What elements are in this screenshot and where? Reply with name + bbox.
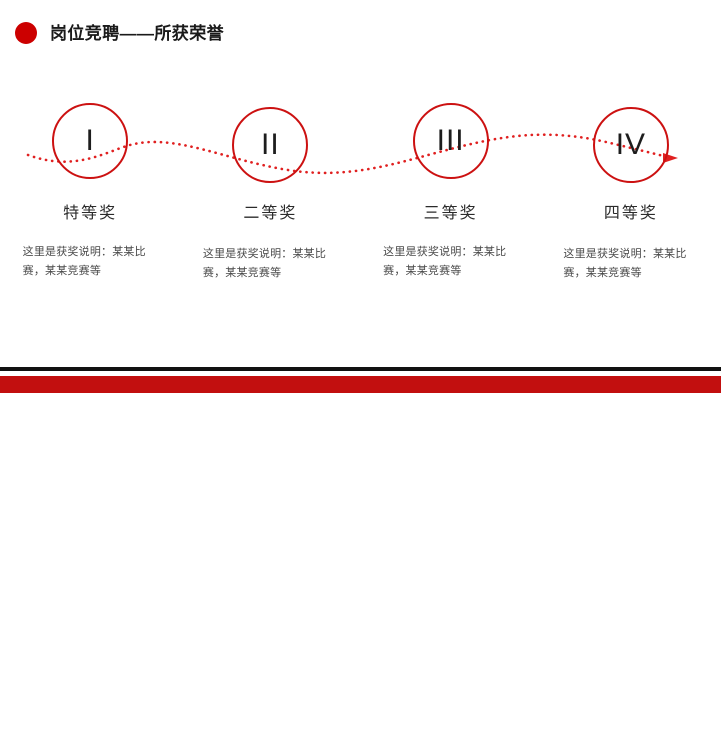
milestone-label-1: 特等奖: [63, 206, 117, 222]
milestone-numeral-2: II: [261, 130, 280, 160]
milestone-item-2[interactable]: II 二等奖 这里是获奖说明：某某比赛，某某竞赛等: [180, 60, 360, 315]
milestone-description-4: 这里是获奖说明：某某比赛，某某竞赛等: [563, 245, 698, 284]
milestone-item-3[interactable]: III 三等奖 这里是获奖说明：某某比赛，某某竞赛等: [361, 60, 541, 315]
milestone-item-1[interactable]: I 特等奖 这里是获奖说明：某某比赛，某某竞赛等: [0, 60, 180, 315]
milestone-circle-3[interactable]: III: [413, 103, 489, 179]
milestone-label-4: 四等奖: [604, 206, 658, 222]
milestone-circle-4[interactable]: IV: [593, 107, 669, 183]
milestone-description-1: 这里是获奖说明：某某比赛，某某竞赛等: [23, 243, 158, 282]
milestone-numeral-1: I: [85, 126, 94, 156]
milestone-label-3: 三等奖: [424, 206, 478, 222]
milestone-description-2: 这里是获奖说明：某某比赛，某某竞赛等: [203, 245, 338, 284]
slide-header: 岗位竞聘——所获荣誉: [0, 17, 224, 49]
milestone-numeral-4: IV: [616, 130, 646, 160]
milestone-list: I 特等奖 这里是获奖说明：某某比赛，某某竞赛等 II 二等奖 这里是获奖说明：…: [0, 60, 721, 315]
page-title: 岗位竞聘——所获荣誉: [50, 25, 224, 42]
footer-bar-red: [0, 376, 721, 393]
milestone-circle-1[interactable]: I: [52, 103, 128, 179]
milestone-circle-2[interactable]: II: [232, 107, 308, 183]
milestone-numeral-3: III: [437, 126, 465, 156]
milestone-description-3: 这里是获奖说明：某某比赛，某某竞赛等: [383, 243, 518, 282]
awards-timeline: I 特等奖 这里是获奖说明：某某比赛，某某竞赛等 II 二等奖 这里是获奖说明：…: [0, 60, 721, 315]
milestone-label-2: 二等奖: [243, 206, 297, 222]
milestone-item-4[interactable]: IV 四等奖 这里是获奖说明：某某比赛，某某竞赛等: [541, 60, 721, 315]
red-dot-icon: [15, 22, 37, 44]
footer-divider-black: [0, 367, 721, 371]
